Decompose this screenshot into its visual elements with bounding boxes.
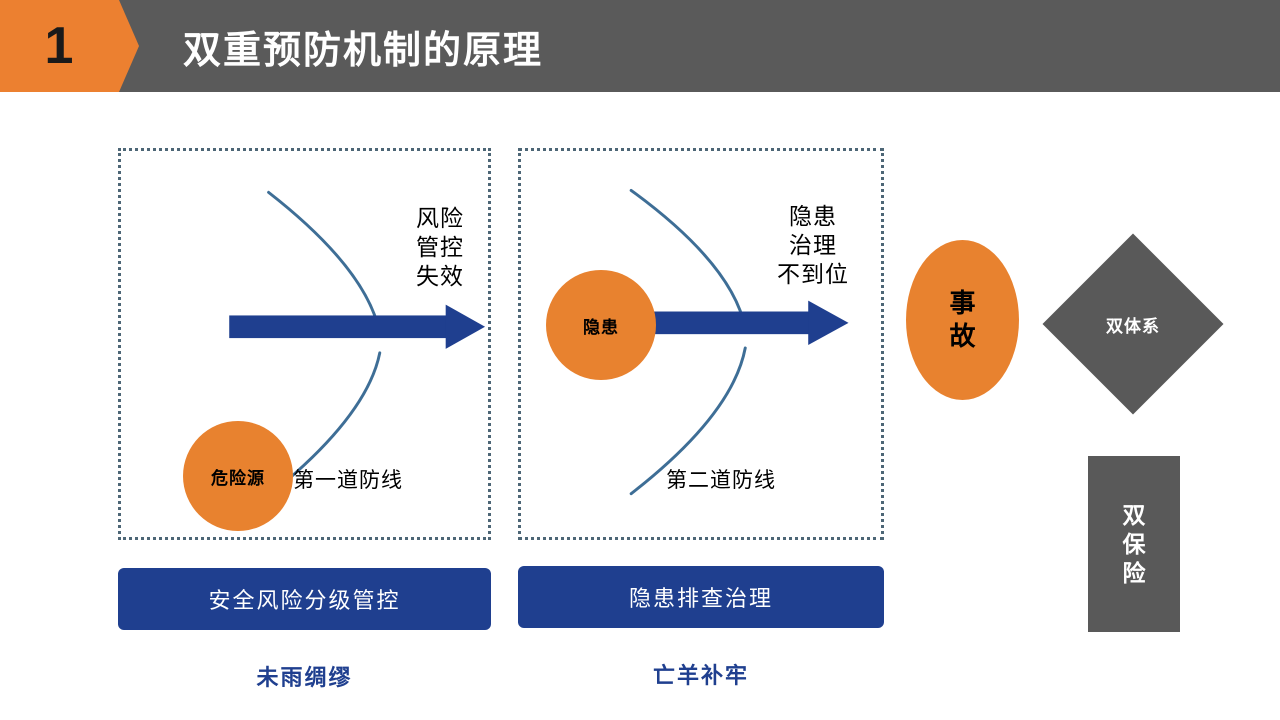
node-hidden-danger-label: 隐患 <box>583 313 619 338</box>
panel-second-line-of-defense: 隐患 隐患 治理 不到位 第二道防线 <box>518 148 884 540</box>
defense-line-label-second: 第二道防线 <box>646 464 796 494</box>
bottom-bar-hazard-investigation-label: 隐患排查治理 <box>629 581 773 613</box>
failure-label-hazard-treatment: 隐患 治理 不到位 <box>758 202 868 289</box>
idiom-label-first: 未雨绸缪 <box>118 660 491 692</box>
page-title: 双重预防机制的原理 <box>183 0 543 92</box>
dual-insurance-box: 双 保 险 <box>1088 456 1180 632</box>
dual-insurance-label: 双 保 险 <box>1123 501 1146 588</box>
failure-label-risk-control: 风险 管控 失效 <box>395 204 485 291</box>
header-bar: 1 双重预防机制的原理 <box>0 0 1280 92</box>
idiom-label-second: 亡羊补牢 <box>518 658 884 690</box>
bottom-bar-hazard-investigation[interactable]: 隐患排查治理 <box>518 566 884 628</box>
bottom-bar-risk-control-label: 安全风险分级管控 <box>208 583 400 615</box>
accident-label: 事 故 <box>949 287 975 353</box>
accident-ellipse: 事 故 <box>906 240 1019 400</box>
dual-system-diamond: 双体系 <box>1043 234 1223 414</box>
header-number-arrow-icon <box>119 0 139 92</box>
defense-arc-upper <box>269 192 380 333</box>
dual-system-label: 双体系 <box>1043 234 1223 414</box>
node-hazard-source-label: 危险源 <box>211 464 265 489</box>
defense-line-label-first: 第一道防线 <box>273 464 423 494</box>
node-hidden-danger: 隐患 <box>546 270 656 380</box>
panel-first-line-of-defense: 危险源 风险 管控 失效 第一道防线 <box>118 148 491 540</box>
header-section-number: 1 <box>0 0 119 92</box>
bottom-bar-risk-control[interactable]: 安全风险分级管控 <box>118 568 491 630</box>
flow-arrow-icon <box>229 305 485 349</box>
